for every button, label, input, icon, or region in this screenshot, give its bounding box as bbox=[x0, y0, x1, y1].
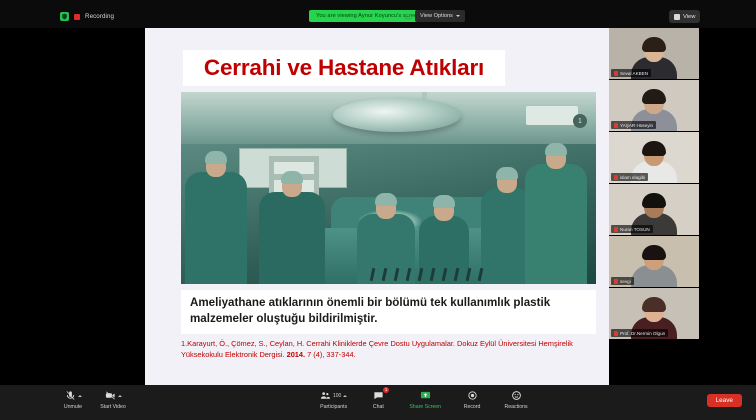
tool-label: Reactions bbox=[505, 404, 528, 410]
participant-hair bbox=[642, 89, 666, 104]
tool-label: Chat bbox=[373, 404, 384, 410]
presentation-slide: Cerrahi ve Hastane Atıkları 1 bbox=[145, 28, 609, 385]
surgical-lamp-icon bbox=[333, 98, 461, 132]
citation-prefix: 1.Karayurt, Ö., Çömez, S., Ceylan, H. Ce… bbox=[181, 339, 573, 359]
view-options-button[interactable]: View Options bbox=[415, 10, 465, 22]
shared-screen-stage: Cerrahi ve Hastane Atıkları 1 bbox=[145, 28, 609, 385]
recording-label: Recording bbox=[85, 13, 114, 20]
microphone-muted-icon bbox=[614, 71, 618, 76]
share-screen-icon bbox=[420, 389, 431, 402]
participant-count: 100 bbox=[333, 393, 341, 399]
people-icon: 100 bbox=[320, 389, 347, 402]
participant-hair bbox=[642, 141, 666, 156]
toolbar-left-group: UnmuteStart Video bbox=[60, 389, 126, 410]
slide-title: Cerrahi ve Hastane Atıkları bbox=[204, 55, 484, 81]
tool-label: Unmute bbox=[64, 404, 82, 410]
zoom-meeting-window: Recording You are viewing Aynur Koyuncu'… bbox=[0, 0, 756, 420]
video-muted-icon bbox=[105, 389, 122, 402]
reactions-icon bbox=[511, 389, 522, 402]
participant-tile[interactable]: YAŞAR Hüseyin bbox=[609, 80, 699, 132]
share-screen-button[interactable]: Share Screen bbox=[409, 389, 441, 410]
participant-tile[interactable]: Prof. Dr.Nermin Olgun bbox=[609, 288, 699, 340]
participant-tile[interactable]: Nuran TOSUN bbox=[609, 184, 699, 236]
participant-name-bar: YAŞAR Hüseyin bbox=[611, 121, 656, 129]
meeting-top-bar: Recording You are viewing Aynur Koyuncu'… bbox=[0, 0, 756, 28]
record-button[interactable]: Record bbox=[459, 389, 485, 410]
record-icon bbox=[467, 389, 478, 402]
ceiling-equipment bbox=[526, 106, 578, 125]
participant-tile[interactable]: Seval AKBEN bbox=[609, 28, 699, 80]
unmute-button[interactable]: Unmute bbox=[60, 389, 86, 410]
chevron-up-icon[interactable] bbox=[78, 395, 82, 397]
reactions-button[interactable]: Reactions bbox=[503, 389, 529, 410]
participant-name-bar: Seval AKBEN bbox=[611, 69, 651, 77]
tool-label: Start Video bbox=[100, 404, 126, 410]
meeting-toolbar: UnmuteStart Video 100Participants1ChatSh… bbox=[0, 385, 756, 420]
participant-filmstrip[interactable]: Seval AKBENYAŞAR Hüseyinislam elagibiNur… bbox=[609, 28, 699, 340]
participant-name: Nuran TOSUN bbox=[620, 227, 650, 232]
citation-year: 2014. bbox=[287, 350, 306, 359]
shield-icon[interactable] bbox=[60, 12, 69, 21]
toolbar-right-group: 100Participants1ChatShare ScreenRecordRe… bbox=[320, 389, 529, 410]
microphone-muted-icon bbox=[614, 279, 618, 284]
chat-button[interactable]: 1Chat bbox=[365, 389, 391, 410]
participant-name: islam elagibi bbox=[620, 175, 645, 180]
unread-badge: 1 bbox=[383, 387, 389, 393]
microphone-muted-icon bbox=[65, 389, 82, 402]
citation-suffix: 7 (4), 337-344. bbox=[305, 350, 356, 359]
microphone-muted-icon bbox=[614, 175, 618, 180]
participants-button[interactable]: 100Participants bbox=[320, 389, 347, 410]
chevron-up-icon[interactable] bbox=[118, 395, 122, 397]
slide-title-box: Cerrahi ve Hastane Atıkları bbox=[183, 50, 505, 86]
cloud-icon bbox=[403, 11, 413, 21]
leave-button[interactable]: Leave bbox=[707, 394, 742, 407]
microphone-muted-icon bbox=[614, 123, 618, 128]
chevron-down-icon bbox=[456, 15, 460, 17]
slide-caption-box: Ameliyathane atıklarının önemli bir bölü… bbox=[181, 290, 596, 334]
view-layout-button[interactable]: View bbox=[669, 10, 700, 23]
participant-hair bbox=[642, 297, 666, 312]
surgeon-figure bbox=[185, 172, 247, 284]
surgeon-figure bbox=[259, 192, 325, 284]
chevron-up-icon[interactable] bbox=[343, 395, 347, 397]
tool-label: Participants bbox=[320, 404, 347, 410]
surgical-instruments bbox=[367, 265, 497, 281]
record-stop-icon[interactable] bbox=[74, 14, 80, 20]
participant-tile[interactable]: sevgi bbox=[609, 236, 699, 288]
participant-hair bbox=[642, 193, 666, 208]
view-button-label: View bbox=[683, 14, 695, 20]
participant-name-bar: Nuran TOSUN bbox=[611, 225, 653, 233]
slide-citation: 1.Karayurt, Ö., Çömez, S., Ceylan, H. Ce… bbox=[181, 339, 596, 360]
participant-hair bbox=[642, 245, 666, 260]
tool-label: Record bbox=[464, 404, 481, 410]
photo-number-badge: 1 bbox=[573, 114, 587, 128]
participant-name: Prof. Dr.Nermin Olgun bbox=[620, 331, 665, 336]
participant-name: Seval AKBEN bbox=[620, 71, 648, 76]
grid-icon bbox=[674, 14, 680, 20]
participant-name-bar: Prof. Dr.Nermin Olgun bbox=[611, 329, 668, 337]
slide-caption-text: Ameliyathane atıklarının önemli bir bölü… bbox=[190, 295, 587, 327]
participant-name-bar: sevgi bbox=[611, 277, 634, 285]
recording-indicator-group: Recording bbox=[60, 12, 114, 21]
microphone-muted-icon bbox=[614, 331, 618, 336]
participant-name: sevgi bbox=[620, 279, 631, 284]
tool-label: Share Screen bbox=[409, 404, 441, 410]
start-video-button[interactable]: Start Video bbox=[100, 389, 126, 410]
operating-room-photo: 1 bbox=[181, 92, 596, 284]
view-options-label: View Options bbox=[420, 13, 453, 19]
microphone-muted-icon bbox=[614, 227, 618, 232]
participant-name: YAŞAR Hüseyin bbox=[620, 123, 653, 128]
participant-tile[interactable]: islam elagibi bbox=[609, 132, 699, 184]
participant-hair bbox=[642, 37, 666, 52]
surgeon-figure bbox=[525, 164, 587, 284]
participant-name-bar: islam elagibi bbox=[611, 173, 648, 181]
